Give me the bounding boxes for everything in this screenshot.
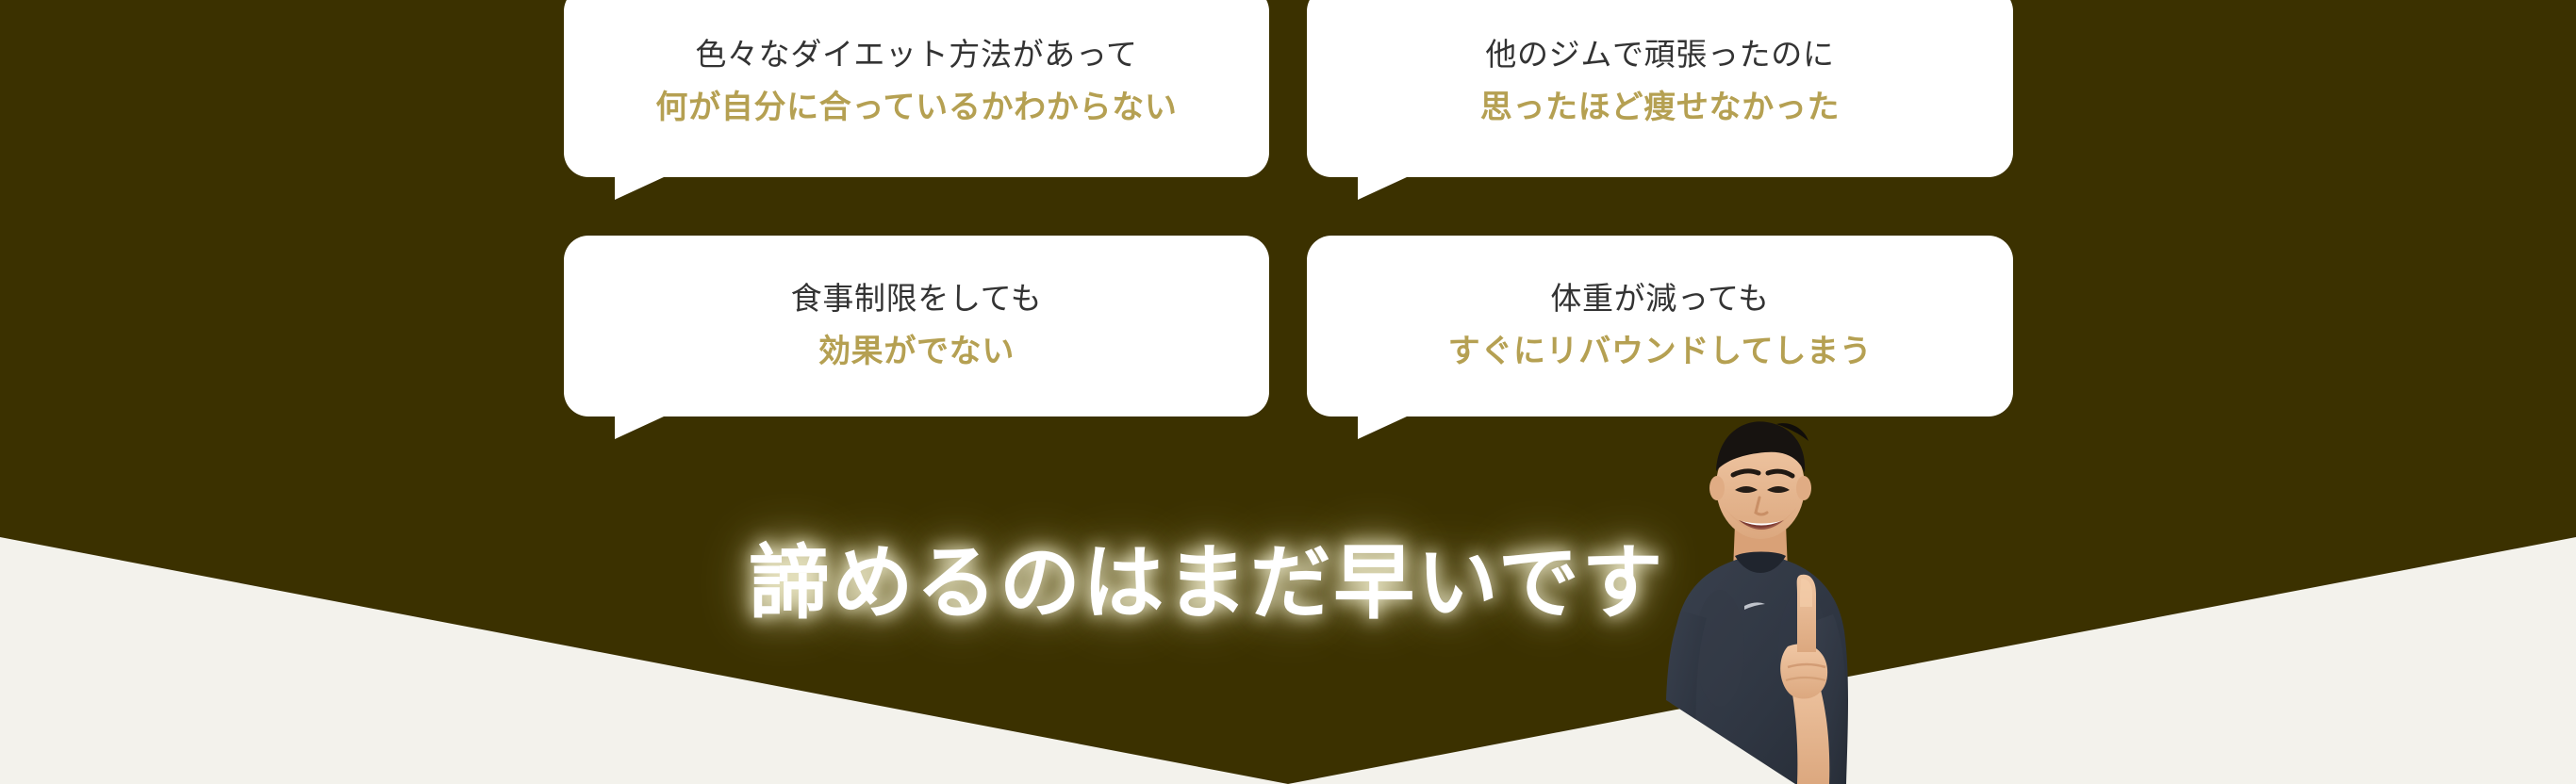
speech-bubble-tail-icon — [615, 416, 664, 439]
hero-headline: 諦めるのはまだ早いです — [0, 516, 2414, 634]
bubble-2-line-1: 他のジムで頑張ったのに — [1485, 33, 1834, 76]
pain-point-bubble-2: 他のジムで頑張ったのに 思ったほど痩せなかった — [1307, 0, 2013, 177]
pain-point-bubble-1: 色々なダイエット方法があって 何が自分に合っているかわからない — [564, 0, 1269, 177]
bubble-1-line-2: 何が自分に合っているかわからない — [655, 86, 1177, 131]
pain-point-bubble-3: 食事制限をしても 効果がでない — [564, 236, 1269, 416]
pain-point-bubble-4: 体重が減っても すぐにリバウンドしてしまう — [1307, 236, 2013, 416]
bubble-2-line-2: 思ったほど痩せなかった — [1480, 86, 1840, 131]
bubble-3-line-1: 食事制限をしても — [791, 277, 1043, 320]
bubble-4-line-1: 体重が減っても — [1550, 277, 1769, 320]
bubble-3-line-2: 効果がでない — [818, 330, 1015, 375]
bubble-1-line-1: 色々なダイエット方法があって — [695, 33, 1137, 76]
speech-bubble-tail-icon — [1358, 177, 1407, 200]
speech-bubble-tail-icon — [1358, 416, 1407, 439]
speech-bubble-tail-icon — [615, 177, 664, 200]
bubble-4-line-2: すぐにリバウンドしてしまう — [1448, 330, 1873, 375]
hero-section: 色々なダイエット方法があって 何が自分に合っているかわからない 他のジムで頑張っ… — [0, 0, 2576, 784]
trainer-photo — [1644, 413, 1890, 784]
cream-chevron-band — [0, 0, 2576, 784]
